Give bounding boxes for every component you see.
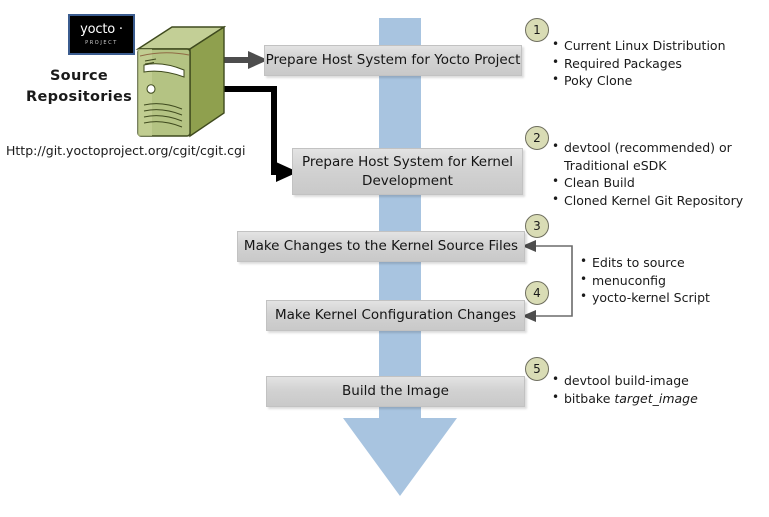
process-box-build-image[interactable]: Build the Image: [266, 376, 525, 407]
yocto-project-logo: yocto · PROJECT: [68, 14, 135, 55]
notes-steps-3-4: Edits to source menuconfig yocto-kernel …: [580, 254, 710, 307]
main-flow-arrow-icon: [343, 18, 457, 506]
note-item: Poky Clone: [552, 72, 726, 90]
note-item: bitbake target_image: [552, 390, 698, 408]
logo-wordmark: yocto ·: [70, 23, 133, 36]
source-repositories-label: Source Repositories: [18, 66, 140, 108]
note-item: devtool (recommended) or Traditional eSD…: [552, 139, 743, 174]
step-number-badge-2: 2: [525, 126, 549, 150]
note-item: devtool build-image: [552, 372, 698, 390]
note-item: Clean Build: [552, 174, 743, 192]
note-item-emphasis: target_image: [614, 391, 697, 406]
note-item-text: devtool (recommended) or: [564, 140, 732, 155]
notes-step-5: devtool build-image bitbake target_image: [552, 372, 698, 407]
source-label-line1: Source: [18, 66, 140, 87]
step-number-badge-5: 5: [525, 357, 549, 381]
connector-feedback-steps-3-4: [518, 238, 586, 324]
logo-subtext: PROJECT: [70, 40, 133, 46]
diagram-canvas: yocto · PROJECT Source Repositories Http…: [0, 0, 769, 517]
process-box-prepare-host-yocto[interactable]: Prepare Host System for Yocto Project: [264, 45, 522, 76]
source-label-line2: Repositories: [18, 87, 140, 108]
connector-server-to-step2: [218, 80, 298, 188]
notes-step-2: devtool (recommended) or Traditional eSD…: [552, 139, 743, 209]
process-box-label-line2: Development: [362, 173, 453, 189]
note-item: Current Linux Distribution: [552, 37, 726, 55]
process-box-prepare-host-kernel[interactable]: Prepare Host System for Kernel Developme…: [292, 148, 523, 195]
process-box-label: Prepare Host System for Yocto Project: [266, 51, 521, 70]
process-box-label-line1: Prepare Host System for Kernel: [302, 154, 513, 170]
note-item: menuconfig: [580, 272, 710, 290]
process-box-label: Make Kernel Configuration Changes: [275, 306, 516, 325]
note-item: Cloned Kernel Git Repository: [552, 192, 743, 210]
process-box-label: Prepare Host System for Kernel Developme…: [302, 153, 513, 191]
note-item-continuation: Traditional eSDK: [564, 157, 743, 175]
step-number-badge-4: 4: [525, 281, 549, 305]
process-box-label: Make Changes to the Kernel Source Files: [244, 237, 518, 256]
note-item: Required Packages: [552, 55, 726, 73]
note-item: Edits to source: [580, 254, 710, 272]
step-number-badge-1: 1: [525, 18, 549, 42]
notes-step-1: Current Linux Distribution Required Pack…: [552, 37, 726, 90]
step-number-badge-3: 3: [525, 214, 549, 238]
process-box-make-kernel-config-changes[interactable]: Make Kernel Configuration Changes: [266, 300, 525, 331]
note-item-text: bitbake: [564, 391, 614, 406]
note-item: yocto-kernel Script: [580, 289, 710, 307]
process-box-make-kernel-source-changes[interactable]: Make Changes to the Kernel Source Files: [237, 231, 525, 262]
source-repositories-url: Http://git.yoctoproject.org/cgit/cgit.cg…: [6, 143, 245, 158]
server-tower-icon: [134, 25, 226, 140]
process-box-label: Build the Image: [342, 382, 449, 401]
